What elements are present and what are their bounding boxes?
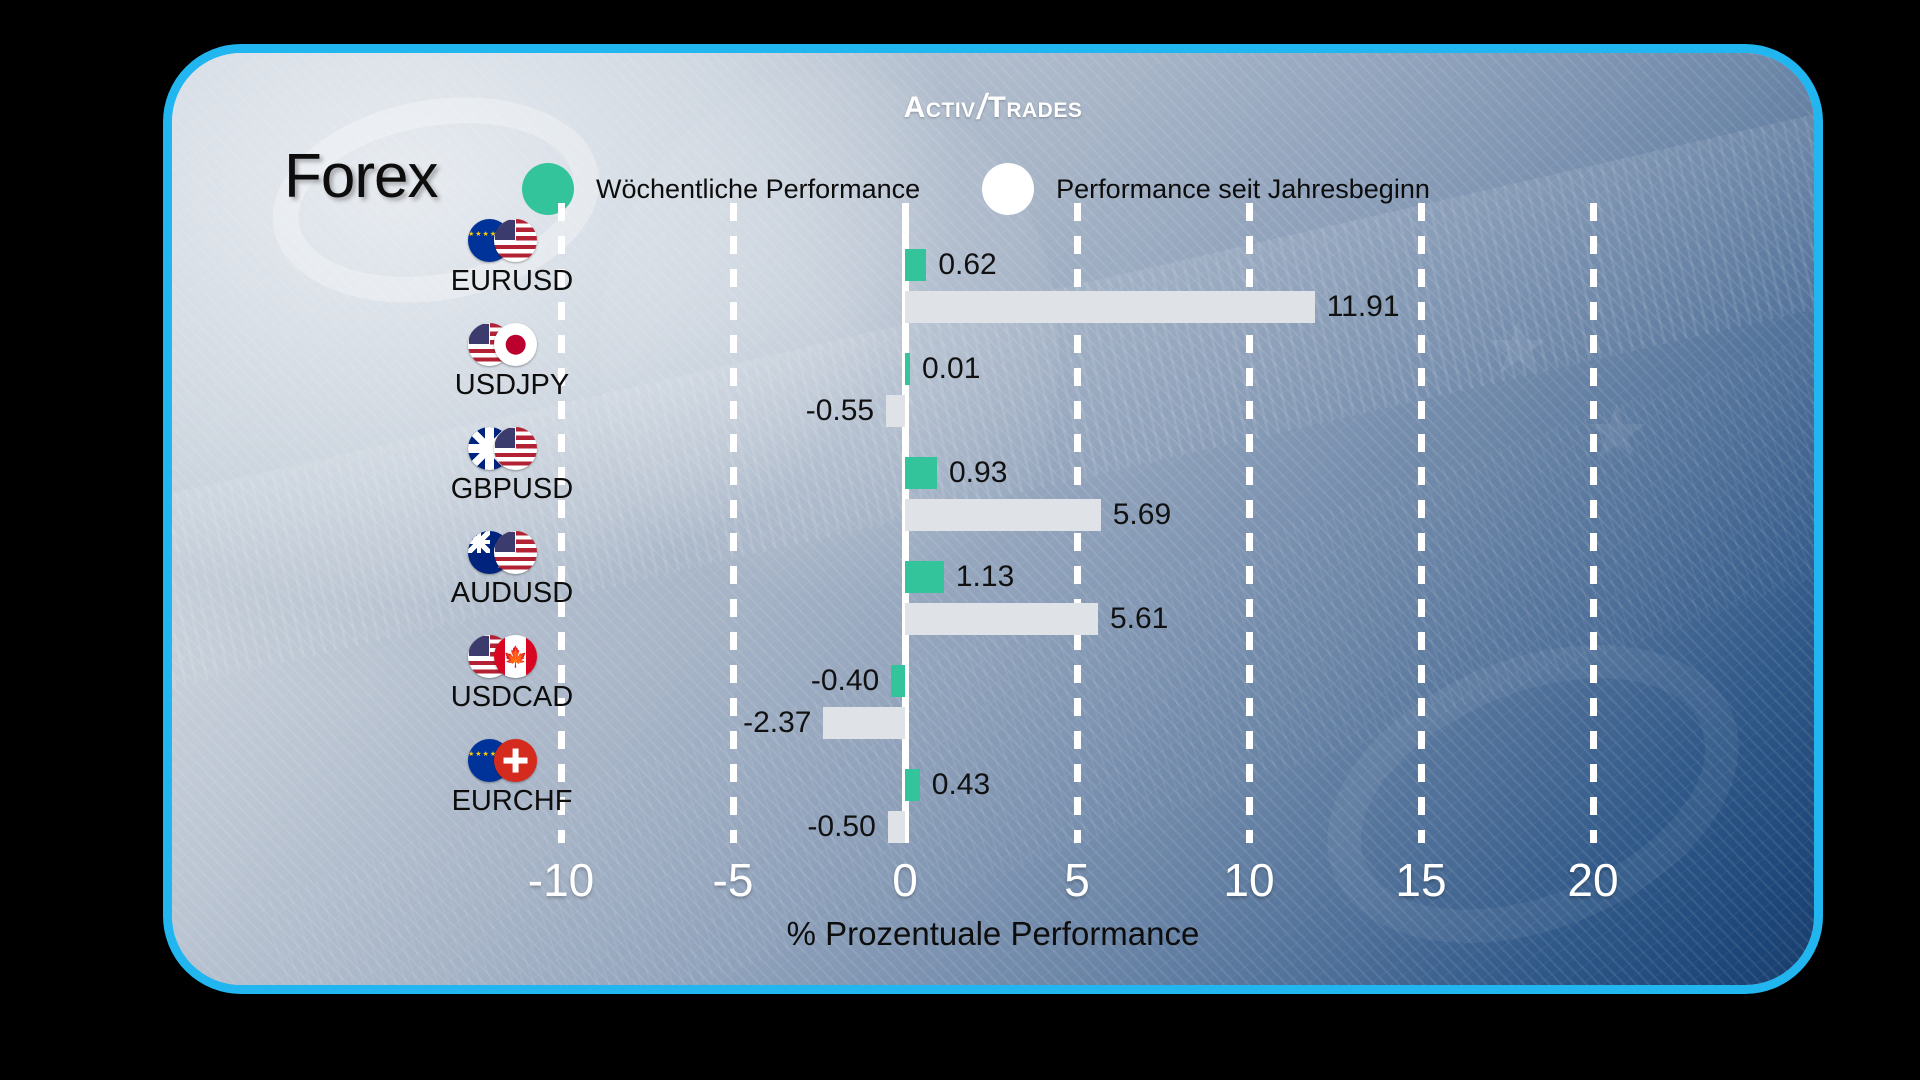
flag-pair: [382, 219, 642, 265]
flag-pair: [382, 635, 642, 681]
chart-card: ★ ★ Activ/Trades Forex Wöchentliche Perf…: [163, 44, 1823, 994]
bar-value-label: 11.91: [1327, 291, 1400, 323]
category-label: AUDUSD: [382, 577, 642, 610]
bar-value-label: 0.62: [938, 249, 996, 281]
x-tick-label: 10: [1223, 853, 1274, 907]
category-usdjpy: USDJPY: [382, 323, 642, 402]
bar-eurusd-wöchentliche: [905, 249, 926, 281]
bar-value-label: 0.93: [949, 457, 1007, 489]
page-title: Forex: [284, 141, 437, 212]
bar-value-label: 5.61: [1110, 603, 1168, 635]
category-eurusd: EURUSD: [382, 219, 642, 298]
bar-eurusd-performance: [905, 291, 1315, 323]
category-gbpusd: GBPUSD: [382, 427, 642, 506]
logo-text-trades: Trades: [988, 91, 1083, 124]
flag-us-icon: [494, 219, 537, 262]
plot-area: EURUSD0.6211.91USDJPY0.01-0.55GBPUSD0.93…: [172, 203, 1814, 843]
flag-us-icon: [494, 531, 537, 574]
x-tick-label: -5: [713, 853, 754, 907]
bar-value-label: -0.55: [806, 395, 874, 427]
flag-pair: [382, 323, 642, 369]
bar-usdcad-wöchentliche: [891, 665, 905, 697]
bar-gbpusd-performance: [905, 499, 1101, 531]
bar-audusd-performance: [905, 603, 1098, 635]
x-tick-label: 20: [1567, 853, 1618, 907]
logo-text-activ: Activ: [904, 91, 976, 124]
bar-usdjpy-performance: [886, 395, 905, 427]
screenshot-root: ★ ★ Activ/Trades Forex Wöchentliche Perf…: [0, 0, 1920, 1080]
category-label: EURUSD: [382, 265, 642, 298]
bar-value-label: 0.43: [932, 769, 990, 801]
x-tick-label: 5: [1064, 853, 1090, 907]
legend-label-ytd: Performance seit Jahresbeginn: [1056, 174, 1430, 205]
category-label: USDCAD: [382, 681, 642, 714]
bar-value-label: 5.69: [1113, 499, 1171, 531]
x-tick-label: 15: [1395, 853, 1446, 907]
category-label: USDJPY: [382, 369, 642, 402]
bar-eurchf-wöchentliche: [905, 769, 920, 801]
flag-us-icon: [494, 427, 537, 470]
bar-usdcad-performance: [823, 707, 905, 739]
x-axis-label: % Prozentuale Performance: [172, 915, 1814, 953]
activtrades-logo: Activ/Trades: [172, 91, 1814, 125]
category-usdcad: USDCAD: [382, 635, 642, 714]
bar-audusd-wöchentliche: [905, 561, 944, 593]
category-label: GBPUSD: [382, 473, 642, 506]
bar-value-label: -0.50: [807, 811, 875, 843]
bar-value-label: 0.01: [922, 353, 980, 385]
bar-usdjpy-wöchentliche: [905, 353, 910, 385]
flag-pair: [382, 739, 642, 785]
bar-gbpusd-wöchentliche: [905, 457, 937, 489]
flag-pair: [382, 427, 642, 473]
flag-ch-icon: [494, 739, 537, 782]
legend-label-weekly: Wöchentliche Performance: [596, 174, 920, 205]
flag-pair: [382, 531, 642, 577]
flag-jp-icon: [494, 323, 537, 366]
bar-eurchf-performance: [888, 811, 905, 843]
bar-value-label: -0.40: [811, 665, 879, 697]
flag-ca-icon: [494, 635, 537, 678]
category-eurchf: EURCHF: [382, 739, 642, 818]
bar-value-label: 1.13: [956, 561, 1014, 593]
bar-value-label: -2.37: [743, 707, 811, 739]
x-axis: -10-505101520: [172, 853, 1814, 913]
x-tick-label: 0: [892, 853, 918, 907]
category-label: EURCHF: [382, 785, 642, 818]
category-audusd: AUDUSD: [382, 531, 642, 610]
x-tick-label: -10: [528, 853, 594, 907]
